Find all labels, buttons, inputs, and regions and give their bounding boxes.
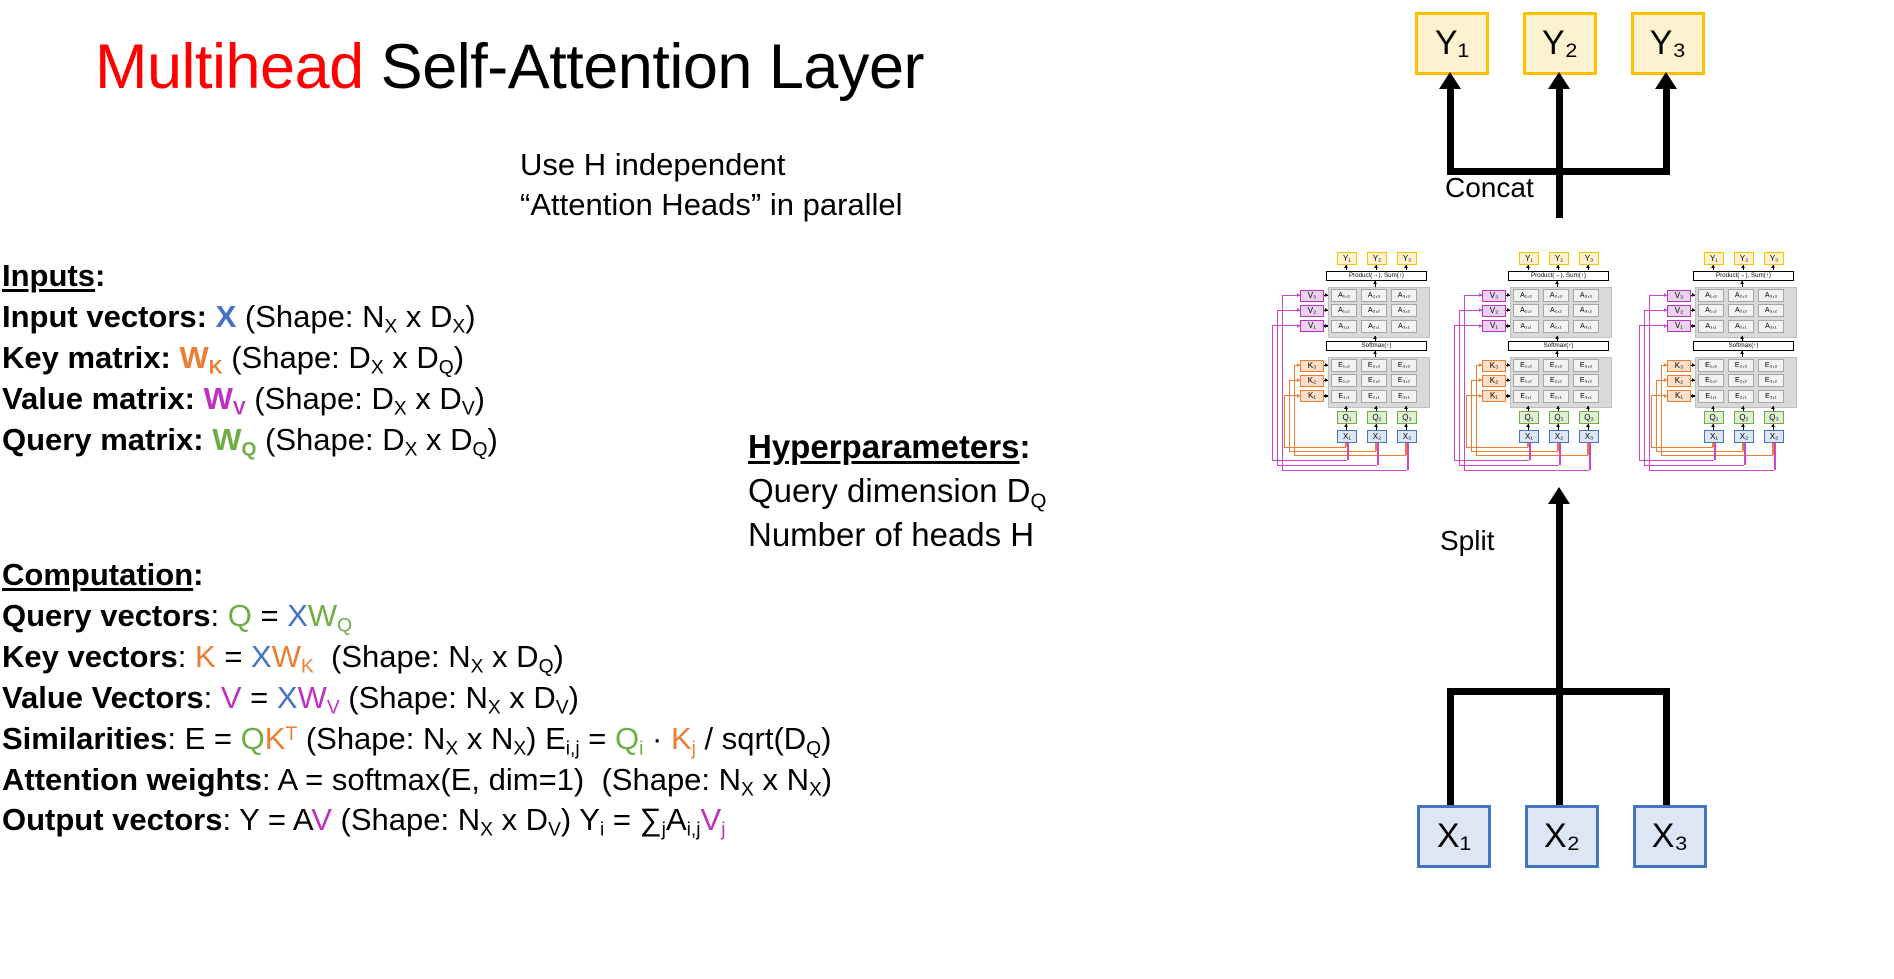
head-x-arrow xyxy=(1404,424,1408,427)
head-magenta-drop xyxy=(1714,443,1715,460)
head-v-box: V₃ xyxy=(1482,290,1506,302)
head-a-cell: A₃,₁ xyxy=(1391,320,1417,333)
attention-head-1[interactable]: Y₁Y₂Y₃Product(→), Sum(↑)A₁,₃A₂,₃A₃,₃A₁,₂… xyxy=(1278,252,1430,482)
split-branch-mid xyxy=(1556,688,1563,806)
head-softmax-bar: Softmax(↑) xyxy=(1326,341,1427,351)
head-e-cell: E₁,₃ xyxy=(1698,359,1724,372)
head-v-feed-arrow xyxy=(1297,308,1300,312)
head-e-cell: E₂,₁ xyxy=(1361,390,1387,403)
head-e-cell: E₃,₃ xyxy=(1573,359,1599,372)
head-y-arrow xyxy=(1526,265,1530,268)
head-magenta-run xyxy=(1459,465,1559,466)
head-orange-riser xyxy=(1476,365,1477,456)
head-v-feed-arrow xyxy=(1664,308,1667,312)
head-x-box: X₂ xyxy=(1734,430,1754,443)
symbol-X: X xyxy=(216,299,237,334)
head-x-arrow xyxy=(1556,424,1560,427)
head-magenta-drop xyxy=(1347,443,1348,460)
head-q-arrow xyxy=(1586,406,1590,409)
head-q-box: Q₂ xyxy=(1734,411,1754,424)
head-magenta-run xyxy=(1272,460,1347,461)
head-a-cell: A₂,₂ xyxy=(1728,304,1754,317)
head-k-feed-arrow xyxy=(1297,378,1300,382)
head-y-box: Y₁ xyxy=(1337,252,1357,265)
inputs-row: Key matrix: WK (Shape: DX x DQ) xyxy=(2,338,498,379)
head-orange-run xyxy=(1656,451,1743,452)
head-magenta-riser xyxy=(1464,295,1465,471)
head-a-cell: A₁,₂ xyxy=(1513,304,1539,317)
title-accent: Multihead xyxy=(95,32,364,102)
head-orange-drop xyxy=(1742,443,1743,451)
head-magenta-run xyxy=(1644,465,1744,466)
head-e-cell: E₃,₁ xyxy=(1758,390,1784,403)
head-softmax-bar: Softmax(↑) xyxy=(1693,341,1794,351)
head-v-feed-arrow xyxy=(1664,293,1667,297)
head-q-arrow xyxy=(1526,406,1530,409)
head-magenta-run xyxy=(1639,460,1714,461)
concat-label: Concat xyxy=(1445,172,1534,204)
head-v-arrow xyxy=(1692,293,1695,297)
head-v-arrow xyxy=(1507,324,1510,328)
head-y-box: Y₂ xyxy=(1734,252,1754,265)
head-a-cell: A₁,₁ xyxy=(1698,320,1724,333)
head-e-cell: E₂,₃ xyxy=(1361,359,1387,372)
head-y-box: Y₁ xyxy=(1519,252,1539,265)
input-box-x2[interactable]: X₂ xyxy=(1525,805,1599,868)
head-orange-drop xyxy=(1587,443,1588,455)
head-magenta-run xyxy=(1282,470,1407,471)
head-q-arrow xyxy=(1771,406,1775,409)
attention-head-2[interactable]: Y₁Y₂Y₃Product(→), Sum(↑)A₁,₃A₂,₃A₃,₃A₁,₂… xyxy=(1460,252,1612,482)
attention-head-3[interactable]: Y₁Y₂Y₃Product(→), Sum(↑)A₁,₃A₂,₃A₃,₃A₁,₂… xyxy=(1645,252,1797,482)
head-e-cell: E₁,₂ xyxy=(1331,374,1357,387)
head-q-box: Q₁ xyxy=(1337,411,1357,424)
subtitle-line-2: “Attention Heads” in parallel xyxy=(520,185,903,225)
head-k-feed-arrow xyxy=(1297,394,1300,398)
head-v-arrow xyxy=(1325,324,1328,328)
head-e-cell: E₃,₃ xyxy=(1391,359,1417,372)
head-a-cell: A₃,₁ xyxy=(1573,320,1599,333)
head-a-cell: A₃,₂ xyxy=(1391,304,1417,317)
head-e-cell: E₂,₂ xyxy=(1543,374,1569,387)
head-y-arrow xyxy=(1374,265,1378,268)
head-v-arrow xyxy=(1692,308,1695,312)
head-v-feed-arrow xyxy=(1297,324,1300,328)
head-k-feed-arrow xyxy=(1664,394,1667,398)
head-k-box: K₃ xyxy=(1667,360,1691,372)
head-q-box: Q₂ xyxy=(1549,411,1569,424)
head-q-box: Q₁ xyxy=(1519,411,1539,424)
head-x-box: X₂ xyxy=(1367,430,1387,443)
head-magenta-riser xyxy=(1277,310,1278,465)
head-softmax-arrow xyxy=(1555,336,1559,339)
head-k-box: K₂ xyxy=(1300,375,1324,387)
head-q-arrow xyxy=(1344,406,1348,409)
head-x-box: X₂ xyxy=(1549,430,1569,443)
head-e-cell: E₂,₃ xyxy=(1543,359,1569,372)
head-magenta-run xyxy=(1464,470,1589,471)
head-orange-riser xyxy=(1289,380,1290,451)
head-x-box: X₃ xyxy=(1397,430,1417,443)
head-k-arrow xyxy=(1507,394,1510,398)
symbol-WK: WK xyxy=(179,340,222,375)
head-x-arrow xyxy=(1711,424,1715,427)
subtitle-line-1: Use H independent xyxy=(520,145,903,185)
head-a-cell: A₂,₂ xyxy=(1543,304,1569,317)
concat-arrow-left xyxy=(1439,72,1461,89)
computation-section: Computation: Query vectors: Q = XWQ Key … xyxy=(2,555,832,841)
head-q-box: Q₁ xyxy=(1704,411,1724,424)
head-v-arrow xyxy=(1507,293,1510,297)
head-q-arrow xyxy=(1741,406,1745,409)
head-a-cell: A₁,₃ xyxy=(1331,289,1357,302)
head-k-box: K₂ xyxy=(1667,375,1691,387)
head-v-box: V₃ xyxy=(1300,290,1324,302)
head-e-cell: E₂,₃ xyxy=(1728,359,1754,372)
head-q-box: Q₃ xyxy=(1579,411,1599,424)
head-orange-riser xyxy=(1656,380,1657,451)
head-orange-run xyxy=(1294,455,1406,456)
head-y-arrow xyxy=(1404,265,1408,268)
head-k-box: K₁ xyxy=(1300,390,1324,402)
head-magenta-riser xyxy=(1639,325,1640,460)
head-a-cell: A₂,₁ xyxy=(1728,320,1754,333)
split-label: Split xyxy=(1440,525,1494,557)
head-q-box: Q₃ xyxy=(1764,411,1784,424)
head-x-arrow xyxy=(1344,424,1348,427)
head-magenta-riser xyxy=(1649,295,1650,471)
head-q-arrow xyxy=(1374,406,1378,409)
head-v-box: V₁ xyxy=(1482,320,1506,332)
concat-trunk xyxy=(1556,88,1563,218)
head-a-cell: A₁,₂ xyxy=(1331,304,1357,317)
head-e-cell: E₂,₂ xyxy=(1728,374,1754,387)
output-box-y2[interactable]: Y₂ xyxy=(1523,12,1597,75)
head-v-feed-arrow xyxy=(1479,308,1482,312)
head-v-box: V₃ xyxy=(1667,290,1691,302)
symbol-WQ: WQ xyxy=(212,422,256,457)
head-v-arrow xyxy=(1325,308,1328,312)
head-x-box: X₁ xyxy=(1337,430,1357,443)
split-branch-right xyxy=(1663,688,1670,806)
head-a-cell: A₂,₃ xyxy=(1728,289,1754,302)
head-product-bar: Product(→), Sum(↑) xyxy=(1508,271,1609,281)
head-magenta-drop xyxy=(1529,443,1530,460)
head-x-arrow xyxy=(1741,424,1745,427)
head-x-arrow xyxy=(1526,424,1530,427)
head-product-bar: Product(→), Sum(↑) xyxy=(1693,271,1794,281)
subtitle: Use H independent “Attention Heads” in p… xyxy=(520,145,903,226)
inputs-row: Query matrix: WQ (Shape: DX x DQ) xyxy=(2,420,498,461)
head-a-cell: A₃,₃ xyxy=(1758,289,1784,302)
head-k-arrow xyxy=(1325,394,1328,398)
head-x-box: X₃ xyxy=(1764,430,1784,443)
concat-arrow-right xyxy=(1655,72,1677,89)
head-e-cell: E₃,₁ xyxy=(1391,390,1417,403)
head-v-feed-arrow xyxy=(1297,293,1300,297)
head-e-cell: E₁,₂ xyxy=(1698,374,1724,387)
input-box-x3[interactable]: X₃ xyxy=(1633,805,1707,868)
head-v-box: V₂ xyxy=(1482,305,1506,317)
head-magenta-drop xyxy=(1774,443,1775,470)
head-product-arrow xyxy=(1740,281,1744,284)
head-magenta-drop xyxy=(1744,443,1745,465)
head-magenta-run xyxy=(1454,460,1529,461)
head-q-arrow xyxy=(1556,406,1560,409)
head-magenta-riser xyxy=(1282,295,1283,471)
head-orange-riser xyxy=(1466,395,1467,447)
head-v-arrow xyxy=(1692,324,1695,328)
head-a-cell: A₁,₁ xyxy=(1331,320,1357,333)
head-y-box: Y₁ xyxy=(1704,252,1724,265)
head-v-arrow xyxy=(1507,308,1510,312)
head-k-feed-arrow xyxy=(1479,394,1482,398)
head-softmax-arrow-bot xyxy=(1740,351,1744,354)
head-magenta-drop xyxy=(1589,443,1590,470)
head-v-box: V₁ xyxy=(1300,320,1324,332)
head-k-feed-arrow xyxy=(1664,363,1667,367)
head-v-feed-arrow xyxy=(1479,324,1482,328)
head-softmax-bar: Softmax(↑) xyxy=(1508,341,1609,351)
head-k-arrow xyxy=(1325,363,1328,367)
head-q-arrow xyxy=(1404,406,1408,409)
head-product-bar: Product(→), Sum(↑) xyxy=(1326,271,1427,281)
head-x-arrow xyxy=(1374,424,1378,427)
multihead-diagram: Y₁ Y₂ Y₃ Concat Y₁Y₂Y₃Product(→), Sum(↑)… xyxy=(1240,0,1894,979)
head-orange-riser xyxy=(1651,395,1652,447)
head-k-arrow xyxy=(1692,378,1695,382)
head-y-box: Y₂ xyxy=(1367,252,1387,265)
head-k-box: K₁ xyxy=(1667,390,1691,402)
computation-row: Value Vectors: V = XWV (Shape: NX x DV) xyxy=(2,678,832,719)
head-y-arrow xyxy=(1741,265,1745,268)
head-x-box: X₁ xyxy=(1704,430,1724,443)
page-title: Multihead Self-Attention Layer xyxy=(95,36,924,99)
head-magenta-riser xyxy=(1272,325,1273,460)
hyperparameters-heading: Hyperparameters: xyxy=(748,425,1046,469)
head-product-arrow xyxy=(1555,281,1559,284)
head-e-cell: E₁,₁ xyxy=(1331,390,1357,403)
title-rest: Self-Attention Layer xyxy=(364,32,924,102)
head-k-arrow xyxy=(1507,378,1510,382)
head-orange-drop xyxy=(1405,443,1406,455)
head-k-feed-arrow xyxy=(1664,378,1667,382)
head-e-cell: E₃,₁ xyxy=(1573,390,1599,403)
head-y-box: Y₃ xyxy=(1579,252,1599,265)
head-y-arrow xyxy=(1556,265,1560,268)
head-softmax-arrow xyxy=(1740,336,1744,339)
head-v-feed-arrow xyxy=(1664,324,1667,328)
inputs-section: Inputs: Input vectors: X (Shape: NX x DX… xyxy=(2,256,498,461)
head-k-box: K₃ xyxy=(1482,360,1506,372)
head-k-arrow xyxy=(1692,394,1695,398)
head-e-cell: E₂,₁ xyxy=(1543,390,1569,403)
head-e-cell: E₃,₂ xyxy=(1573,374,1599,387)
head-orange-drop xyxy=(1772,443,1773,455)
concat-branch-right xyxy=(1663,88,1670,175)
split-branch-left xyxy=(1447,688,1454,806)
head-a-cell: A₂,₃ xyxy=(1543,289,1569,302)
head-orange-run xyxy=(1661,455,1773,456)
head-magenta-riser xyxy=(1644,310,1645,465)
head-magenta-drop xyxy=(1407,443,1408,470)
head-orange-riser xyxy=(1294,365,1295,456)
computation-row: Similarities: E = QKT (Shape: NX x NX) E… xyxy=(2,719,832,760)
head-y-box: Y₃ xyxy=(1397,252,1417,265)
head-y-box: Y₃ xyxy=(1764,252,1784,265)
head-k-feed-arrow xyxy=(1297,363,1300,367)
head-magenta-drop xyxy=(1559,443,1560,465)
head-orange-run xyxy=(1471,451,1558,452)
head-v-box: V₂ xyxy=(1300,305,1324,317)
head-softmax-arrow xyxy=(1373,336,1377,339)
head-softmax-arrow-bot xyxy=(1373,351,1377,354)
head-e-cell: E₁,₃ xyxy=(1331,359,1357,372)
head-k-box: K₃ xyxy=(1300,360,1324,372)
head-e-cell: E₃,₂ xyxy=(1391,374,1417,387)
head-q-arrow xyxy=(1711,406,1715,409)
head-a-cell: A₁,₁ xyxy=(1513,320,1539,333)
head-a-cell: A₁,₃ xyxy=(1513,289,1539,302)
concat-arrow-mid xyxy=(1548,72,1570,89)
head-a-cell: A₃,₂ xyxy=(1758,304,1784,317)
head-e-cell: E₃,₃ xyxy=(1758,359,1784,372)
head-a-cell: A₃,₁ xyxy=(1758,320,1784,333)
head-e-cell: E₂,₂ xyxy=(1361,374,1387,387)
head-orange-drop xyxy=(1375,443,1376,451)
hyperparameter-item: Query dimension DQ xyxy=(748,469,1046,513)
head-e-cell: E₁,₁ xyxy=(1698,390,1724,403)
head-orange-run xyxy=(1289,451,1376,452)
head-y-arrow xyxy=(1711,265,1715,268)
head-a-cell: A₃,₃ xyxy=(1391,289,1417,302)
split-trunk xyxy=(1556,503,1563,691)
input-box-x1[interactable]: X₁ xyxy=(1417,805,1491,868)
head-v-box: V₂ xyxy=(1667,305,1691,317)
split-arrow xyxy=(1548,487,1570,504)
head-orange-riser xyxy=(1284,395,1285,447)
head-k-box: K₂ xyxy=(1482,375,1506,387)
head-orange-riser xyxy=(1471,380,1472,451)
head-k-arrow xyxy=(1507,363,1510,367)
head-product-arrow xyxy=(1373,281,1377,284)
head-a-cell: A₂,₂ xyxy=(1361,304,1387,317)
head-magenta-run xyxy=(1277,465,1377,466)
head-orange-riser xyxy=(1661,365,1662,456)
head-magenta-riser xyxy=(1459,310,1460,465)
head-e-cell: E₂,₁ xyxy=(1728,390,1754,403)
concat-branch-left xyxy=(1447,88,1454,175)
computation-row: Query vectors: Q = XWQ xyxy=(2,596,832,637)
head-q-box: Q₂ xyxy=(1367,411,1387,424)
output-box-y3[interactable]: Y₃ xyxy=(1631,12,1705,75)
head-magenta-drop xyxy=(1377,443,1378,465)
head-e-cell: E₁,₂ xyxy=(1513,374,1539,387)
head-v-arrow xyxy=(1325,293,1328,297)
computation-row: Attention weights: A = softmax(E, dim=1)… xyxy=(2,760,832,801)
head-y-box: Y₂ xyxy=(1549,252,1569,265)
head-k-arrow xyxy=(1692,363,1695,367)
head-k-box: K₁ xyxy=(1482,390,1506,402)
inputs-row: Input vectors: X (Shape: NX x DX) xyxy=(2,297,498,338)
head-k-arrow xyxy=(1325,378,1328,382)
head-x-box: X₁ xyxy=(1519,430,1539,443)
head-softmax-arrow-bot xyxy=(1555,351,1559,354)
computation-row: Key vectors: K = XWK (Shape: NX x DQ) xyxy=(2,637,832,678)
head-a-cell: A₁,₂ xyxy=(1698,304,1724,317)
head-orange-run xyxy=(1476,455,1588,456)
head-orange-drop xyxy=(1557,443,1558,451)
head-e-cell: E₃,₂ xyxy=(1758,374,1784,387)
head-v-feed-arrow xyxy=(1479,293,1482,297)
computation-row: Output vectors: Y = AV (Shape: NX x DV) … xyxy=(2,800,832,841)
head-y-arrow xyxy=(1344,265,1348,268)
output-box-y1[interactable]: Y₁ xyxy=(1415,12,1489,75)
inputs-heading: Inputs: xyxy=(2,256,498,297)
head-q-box: Q₃ xyxy=(1397,411,1417,424)
head-k-feed-arrow xyxy=(1479,363,1482,367)
head-y-arrow xyxy=(1771,265,1775,268)
head-a-cell: A₃,₃ xyxy=(1573,289,1599,302)
head-e-cell: E₁,₁ xyxy=(1513,390,1539,403)
computation-heading: Computation: xyxy=(2,555,832,596)
head-e-cell: E₁,₃ xyxy=(1513,359,1539,372)
head-a-cell: A₂,₃ xyxy=(1361,289,1387,302)
head-x-arrow xyxy=(1586,424,1590,427)
head-x-arrow xyxy=(1771,424,1775,427)
head-a-cell: A₁,₃ xyxy=(1698,289,1724,302)
inputs-row: Value matrix: WV (Shape: DX x DV) xyxy=(2,379,498,420)
head-k-feed-arrow xyxy=(1479,378,1482,382)
symbol-WV: WV xyxy=(204,381,246,416)
head-a-cell: A₂,₁ xyxy=(1361,320,1387,333)
head-v-box: V₁ xyxy=(1667,320,1691,332)
hyperparameter-item: Number of heads H xyxy=(748,513,1046,557)
head-y-arrow xyxy=(1586,265,1590,268)
head-a-cell: A₃,₂ xyxy=(1573,304,1599,317)
head-magenta-riser xyxy=(1454,325,1455,460)
head-a-cell: A₂,₁ xyxy=(1543,320,1569,333)
head-x-box: X₃ xyxy=(1579,430,1599,443)
head-magenta-run xyxy=(1649,470,1774,471)
hyperparameters-section: Hyperparameters: Query dimension DQ Numb… xyxy=(748,425,1046,558)
